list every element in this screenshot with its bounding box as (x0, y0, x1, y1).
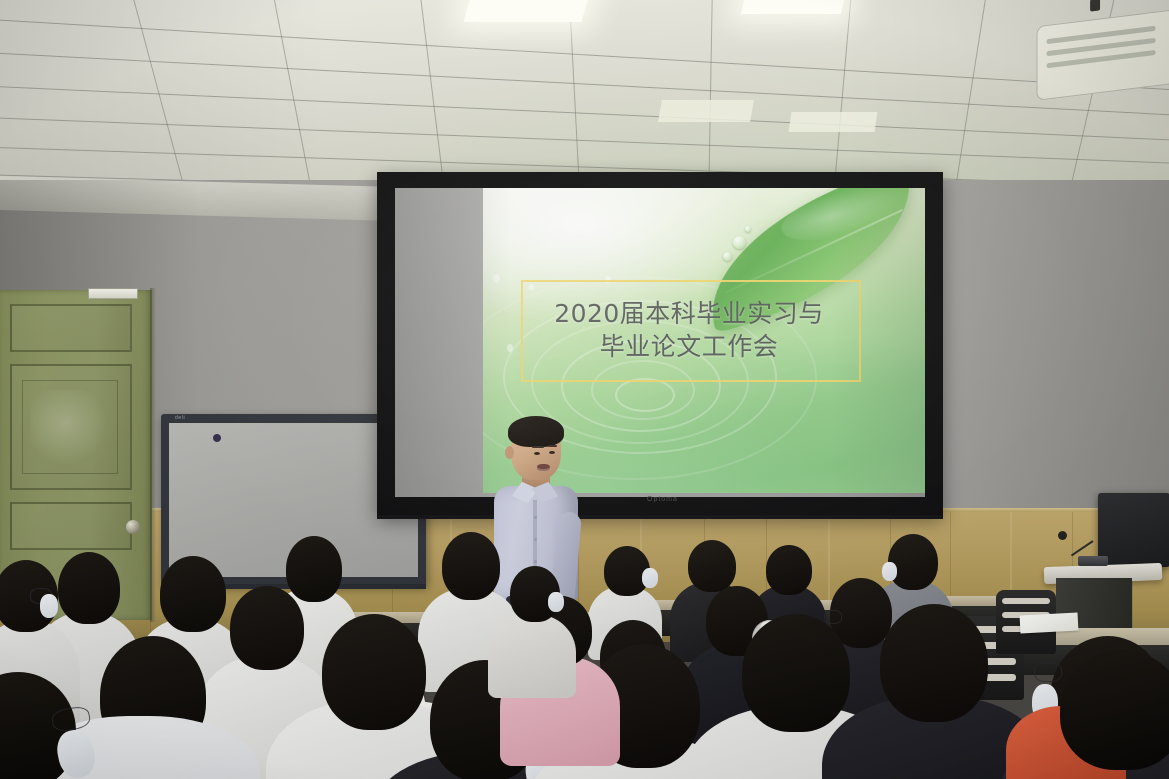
presenter-eyebrow (548, 445, 557, 447)
presenter-shirt-button (534, 538, 537, 541)
slide-title-line-2: 毕业论文工作会 (600, 330, 779, 363)
leaf-water-droplet (733, 236, 746, 249)
water-ripple (615, 378, 675, 412)
projection-screen-surface: 2020届本科毕业实习与 毕业论文工作会 (395, 188, 925, 497)
student-body (500, 656, 620, 766)
face-mask (524, 755, 551, 779)
projection-screen: 2020届本科毕业实习与 毕业论文工作会 Optoma (377, 172, 943, 515)
student-body (680, 644, 792, 754)
leaf-highlight (776, 188, 911, 251)
paper-sheet (376, 693, 431, 742)
student-body (822, 696, 1048, 779)
presenter-hair (508, 416, 564, 447)
desk-top (80, 640, 330, 654)
mask-strap (534, 722, 546, 749)
microphone-base (1078, 556, 1108, 566)
chair-slat (942, 642, 1016, 649)
screen-brand-label: Optoma (647, 496, 678, 503)
ceiling-light-panel (741, 0, 847, 14)
ceiling-light-panel (463, 0, 590, 22)
door-knob[interactable] (126, 520, 140, 534)
face-mask (1032, 684, 1058, 722)
student-body (570, 682, 694, 779)
student-body (526, 738, 758, 779)
ceiling-light-panel-dim (658, 100, 754, 122)
paper-sheet (392, 697, 433, 736)
whiteboard-magnet (213, 434, 221, 442)
presenter-eye (549, 451, 555, 454)
leaf-water-droplet (745, 226, 751, 232)
presenter-hand (556, 600, 574, 620)
presenter-mouth (537, 464, 550, 471)
chair-slat (942, 674, 1016, 681)
student-head (100, 636, 206, 756)
leaf-water-droplet (723, 252, 732, 261)
student-body (370, 752, 598, 779)
eyeglasses (50, 705, 91, 733)
presenter-shirt-button (534, 516, 537, 519)
door-panel (10, 304, 132, 352)
student-body (40, 726, 260, 779)
presenter-eye (534, 452, 540, 455)
student-head (0, 672, 76, 779)
student-body (20, 716, 260, 779)
side-desk-front (1006, 645, 1169, 675)
classroom-presentation-photo: deli (0, 0, 1169, 779)
slide-title: 2020届本科毕业实习与 毕业论文工作会 (521, 284, 857, 376)
student-head (430, 660, 540, 779)
mask-strap (661, 656, 672, 670)
student-head (588, 644, 700, 768)
face-mask (53, 727, 98, 779)
student-body (1000, 724, 1169, 779)
door-sign (88, 288, 138, 299)
whiteboard-tray (161, 584, 426, 589)
ceiling-sensor (1090, 0, 1100, 12)
chair-slat (942, 658, 1016, 665)
door-panel (10, 502, 132, 550)
slide-title-line-1: 2020届本科毕业实习与 (554, 297, 824, 330)
student-body (804, 636, 918, 750)
presenter-shirt-button (534, 560, 537, 563)
water-droplet (493, 274, 500, 283)
presenter-eyebrow (532, 446, 544, 448)
ceiling-light-panel-dim (789, 112, 878, 132)
student-body (266, 700, 480, 779)
whiteboard-brand-label: deli (175, 415, 185, 421)
door-smudge (30, 390, 108, 464)
presenter-shirt-button (534, 582, 537, 585)
presenter-ear (505, 446, 514, 459)
water-droplet (507, 344, 513, 352)
classroom-door[interactable] (0, 290, 152, 620)
presenter (488, 420, 584, 650)
door-frame (150, 288, 156, 622)
desk-front (78, 652, 334, 682)
microphone-head (1058, 531, 1067, 540)
student-body (1006, 706, 1126, 779)
student-body (684, 706, 908, 779)
podium-monitor (1098, 493, 1169, 567)
student-body (196, 656, 336, 779)
